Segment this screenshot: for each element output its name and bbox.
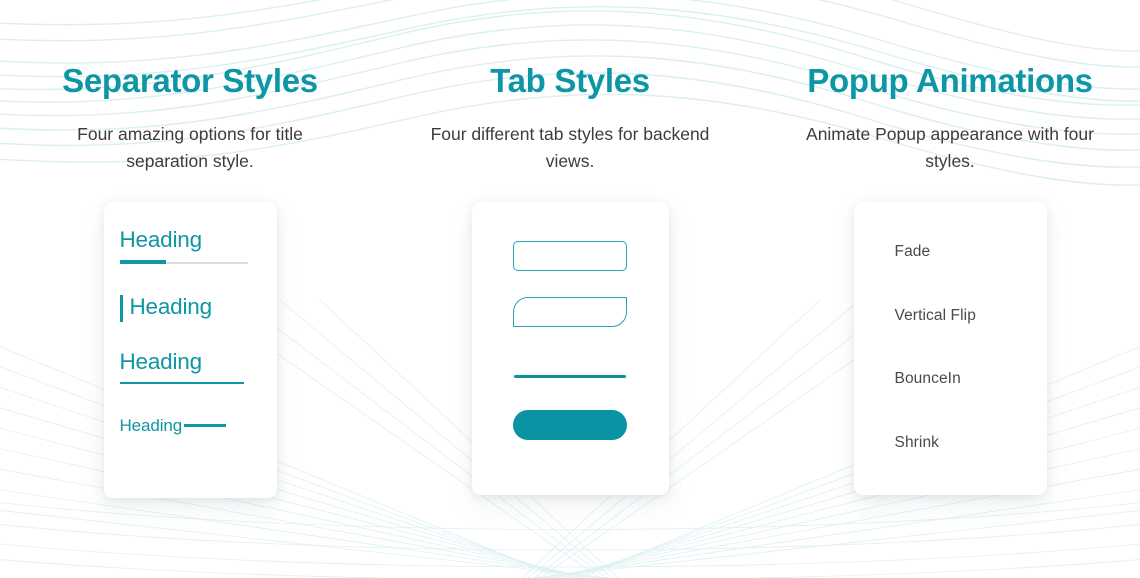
separator-thick-bar (120, 260, 166, 264)
tab-style-diagonal-outline-row (472, 297, 669, 327)
separator-label: Heading (120, 228, 261, 252)
tab-style-filled-pill-row (472, 410, 669, 440)
tab-diagonal-rounded-outline[interactable] (513, 297, 627, 327)
separator-full-underline (120, 382, 244, 384)
card-animation-list: Fade Vertical Flip BounceIn Shrink (854, 202, 1047, 495)
card-tab-preview (472, 202, 669, 495)
separator-vertical-bar (120, 295, 123, 322)
separator-trailing-line (184, 424, 226, 427)
separator-style-full-underline[interactable]: Heading (104, 350, 277, 383)
list-item[interactable]: BounceIn (895, 371, 1047, 387)
column-popup-animations: Popup Animations Animate Popup appearanc… (760, 62, 1140, 578)
page-title-separator-styles: Separator Styles (62, 62, 318, 100)
card-separator-preview: Heading Heading Heading (104, 202, 277, 498)
feature-columns: Separator Styles Four amazing options fo… (0, 0, 1140, 578)
tab-style-underline-row (472, 375, 669, 378)
separator-style-thick-bar[interactable]: Heading (104, 228, 277, 265)
tab-rounded-outline[interactable] (513, 241, 627, 271)
separator-style-left-bar[interactable]: Heading (104, 295, 277, 322)
tab-underline-only[interactable] (514, 375, 626, 378)
separator-label: Heading (120, 416, 183, 436)
subtitle-popup-animations: Animate Popup appearance with four style… (805, 121, 1095, 174)
separator-label: Heading (130, 295, 212, 322)
list-item[interactable]: Vertical Flip (895, 308, 1047, 324)
subtitle-separator-styles: Four amazing options for title separatio… (45, 121, 335, 174)
page-title-popup-animations: Popup Animations (807, 62, 1092, 100)
separator-vertical-bar-wrap: Heading (120, 295, 261, 322)
column-separator-styles: Separator Styles Four amazing options fo… (0, 62, 380, 578)
separator-underline-dual (120, 260, 248, 265)
list-item[interactable]: Fade (895, 244, 1047, 260)
separator-inline-wrap: Heading (120, 416, 261, 436)
column-tab-styles: Tab Styles Four different tab styles for… (380, 62, 760, 578)
animation-option-list: Fade Vertical Flip BounceIn Shrink (854, 244, 1047, 450)
separator-label: Heading (120, 350, 261, 374)
tab-filled-pill[interactable] (513, 410, 627, 440)
subtitle-tab-styles: Four different tab styles for backend vi… (425, 121, 715, 174)
list-item[interactable]: Shrink (895, 435, 1047, 451)
tab-style-rounded-outline-row (472, 241, 669, 271)
separator-style-trailing-line[interactable]: Heading (104, 416, 277, 436)
page-title-tab-styles: Tab Styles (490, 62, 650, 100)
